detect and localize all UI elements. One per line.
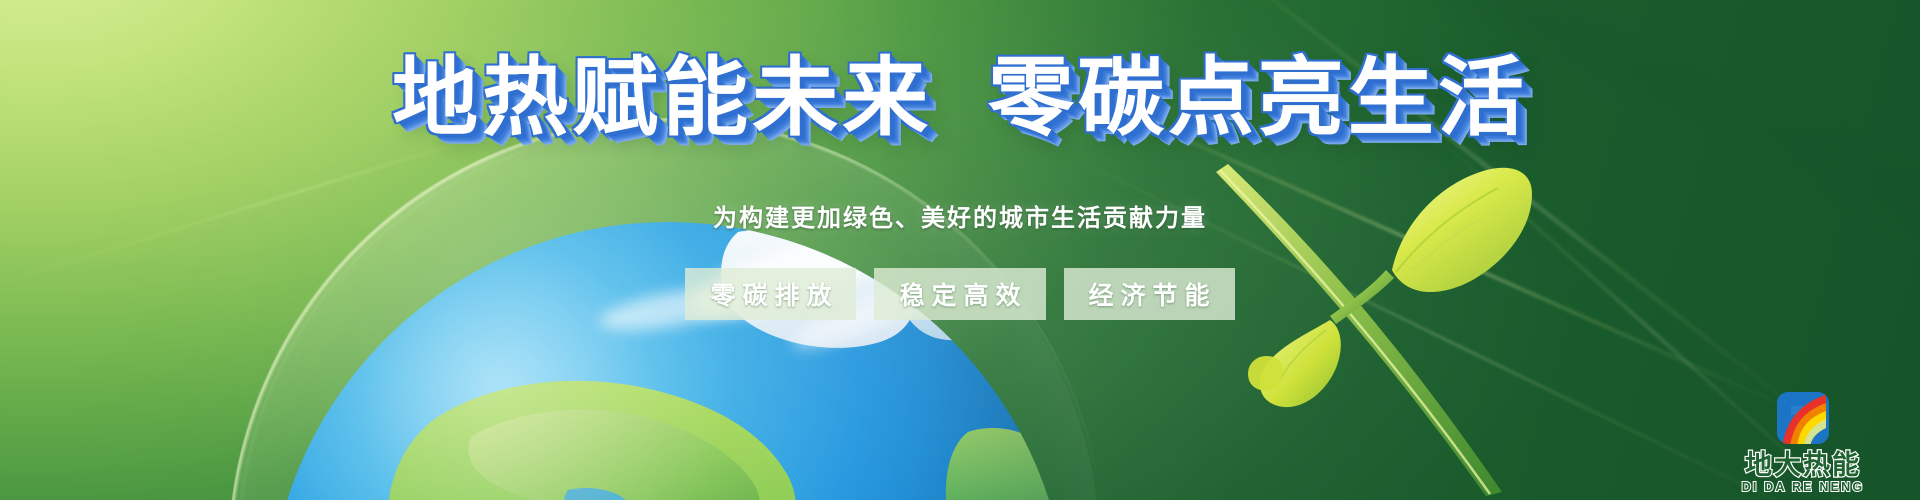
brand-logo[interactable]: 地大热能 DI DA RE NENG bbox=[1728, 391, 1878, 494]
feature-badge-list: 零碳排放 稳定高效 经济节能 bbox=[0, 268, 1920, 320]
page-subtitle: 为构建更加绿色、美好的城市生活贡献力量 bbox=[0, 198, 1920, 233]
feature-badge-zero-carbon[interactable]: 零碳排放 bbox=[685, 268, 856, 320]
page-title: 地热赋能未来 零碳点亮生活 bbox=[0, 52, 1920, 145]
feature-badge-economical[interactable]: 经济节能 bbox=[1064, 268, 1235, 320]
logo-name-en: DI DA RE NENG bbox=[1728, 480, 1878, 494]
hero-banner: 地热赋能未来 零碳点亮生活 为构建更加绿色、美好的城市生活贡献力量 零碳排放 稳… bbox=[0, 0, 1920, 500]
feature-badge-stable-efficient[interactable]: 稳定高效 bbox=[874, 268, 1045, 320]
rainbow-square-logo-icon bbox=[1776, 391, 1830, 445]
logo-name-cn: 地大热能 bbox=[1728, 451, 1878, 479]
